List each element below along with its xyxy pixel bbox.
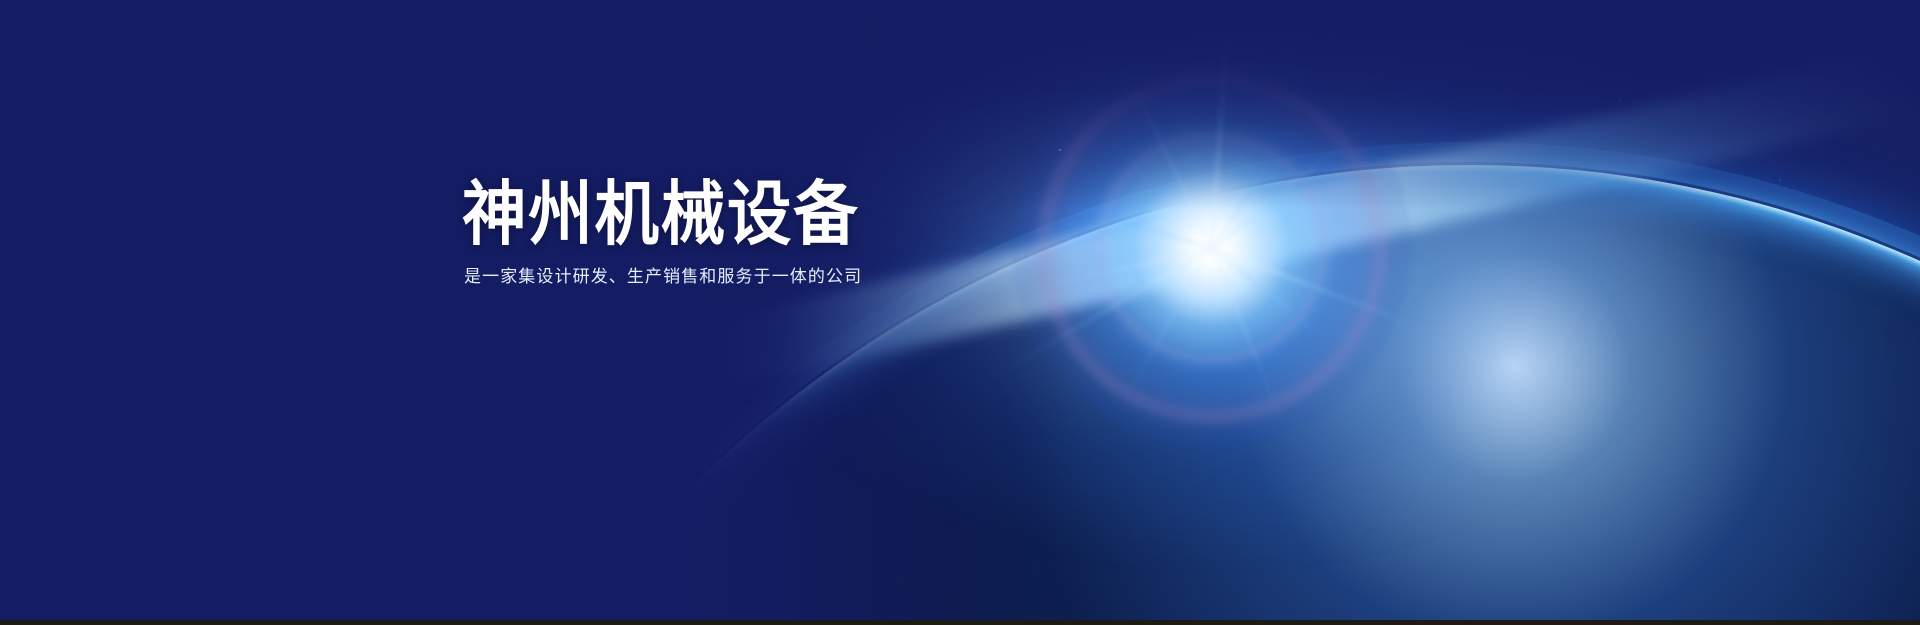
earth-space-artwork [600,0,1920,625]
hero-banner: 神州机械设备 是一家集设计研发、生产销售和服务于一体的公司 [0,0,1920,625]
company-title: 神州机械设备 [462,176,859,252]
company-subtitle: 是一家集设计研发、生产销售和服务于一体的公司 [464,266,894,288]
bottom-edge-strip [0,620,1920,625]
hero-copy-block: 神州机械设备 是一家集设计研发、生产销售和服务于一体的公司 [462,176,894,288]
